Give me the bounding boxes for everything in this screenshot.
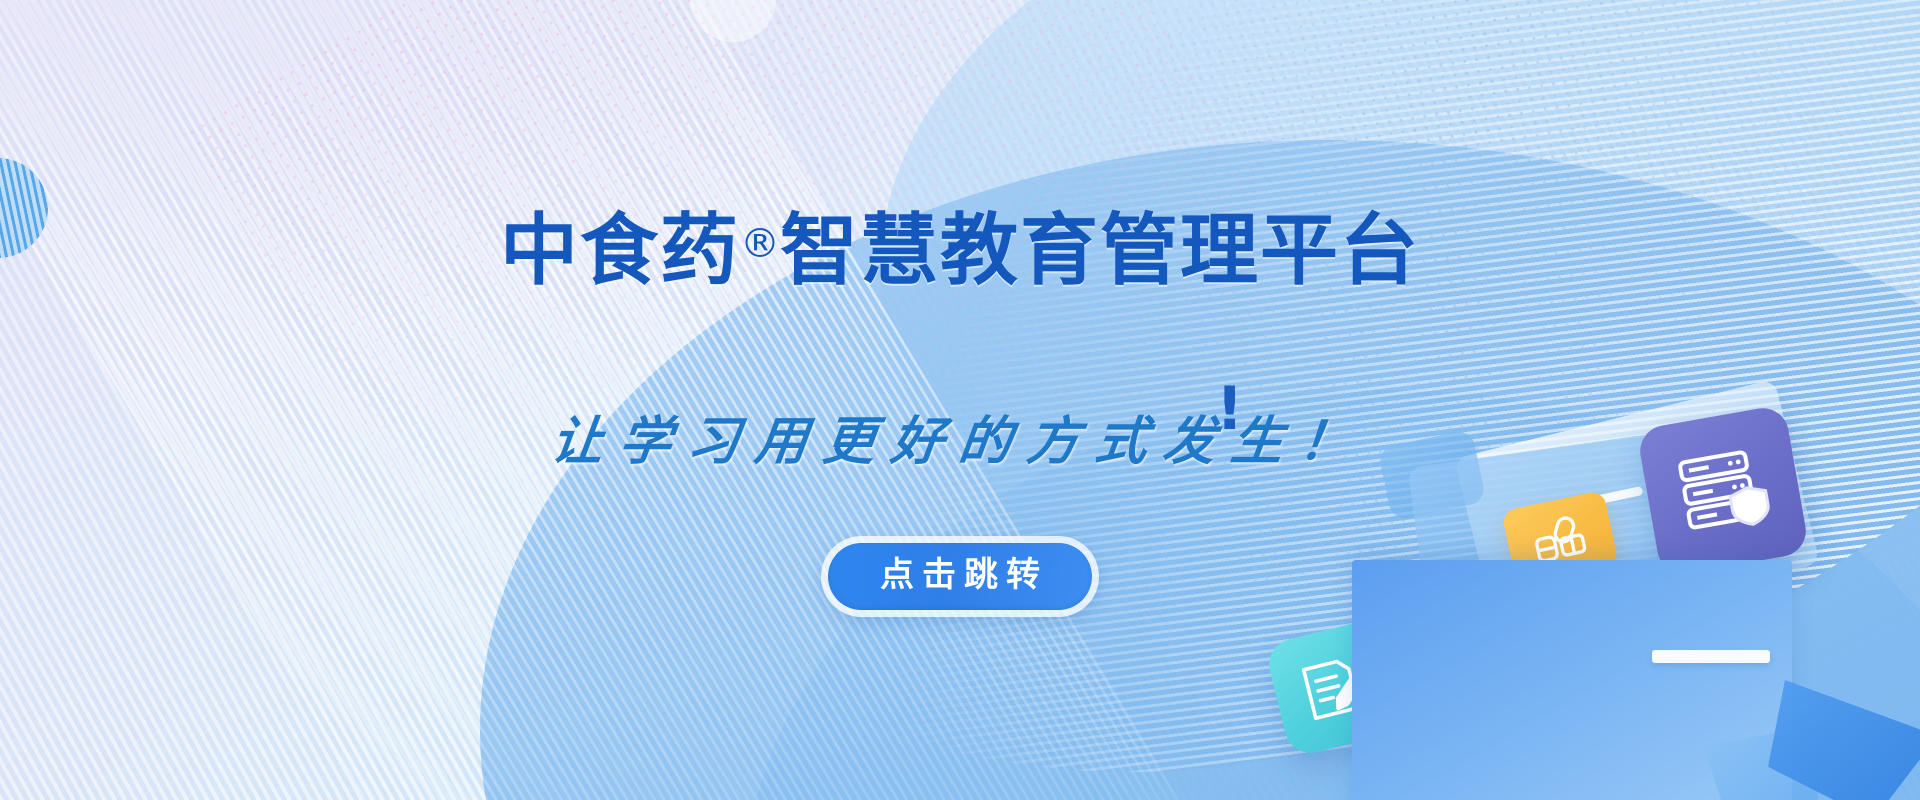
- page-title-brand: 中食药: [500, 206, 740, 296]
- registered-trademark-icon: ®: [740, 221, 780, 267]
- hero-content: 中食药®智慧教育管理平台 让学习用更好的方式发生！ 点击跳转: [0, 0, 1920, 800]
- page-title-rest: 智慧教育管理平台: [780, 206, 1420, 296]
- page-title: 中食药®智慧教育管理平台: [500, 212, 1420, 290]
- jump-button[interactable]: 点击跳转: [828, 543, 1092, 610]
- hero-banner: !: [0, 0, 1920, 800]
- cta-button-ring: 点击跳转: [821, 536, 1099, 617]
- page-subtitle: 让学习用更好的方式发生！: [547, 399, 1372, 474]
